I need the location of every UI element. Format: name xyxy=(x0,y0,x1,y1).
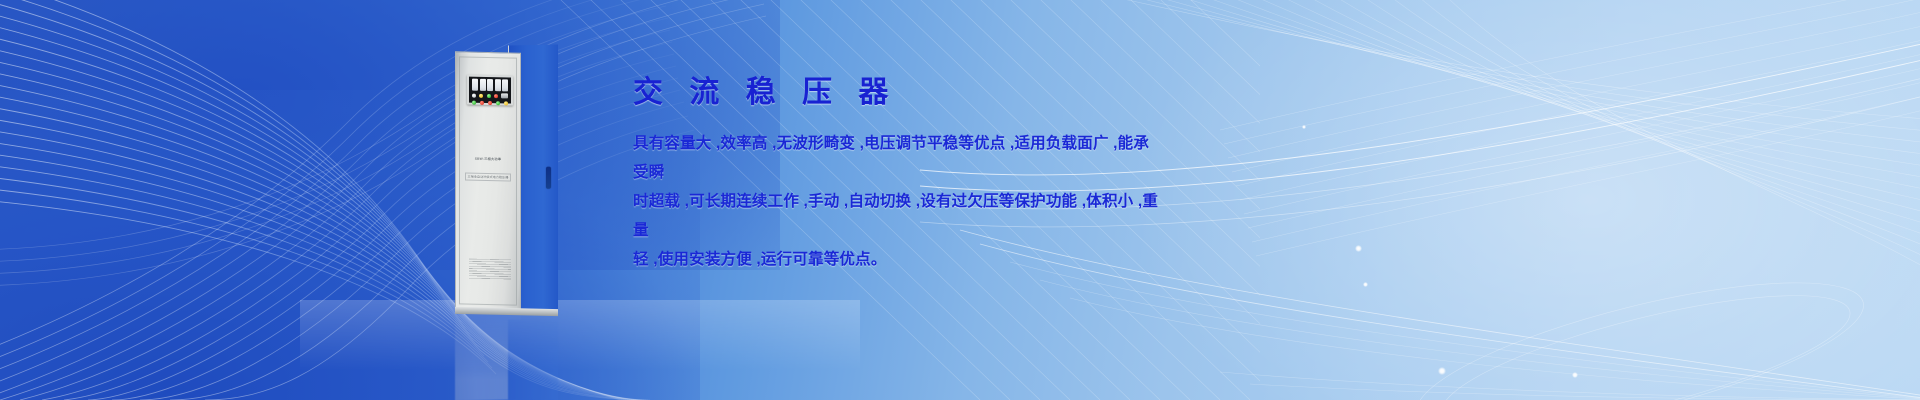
indicator-lamp-icon xyxy=(472,93,476,97)
indicator-lamp-icon xyxy=(488,101,492,105)
indicator-lamp-icon xyxy=(504,101,508,105)
banner-copy: 交 流 稳 压 器 具有容量大 ,效率高 ,无波形畸变 ,电压调节平稳等优点 ,… xyxy=(633,76,1163,274)
indicator-lamp-icon xyxy=(480,100,484,104)
product-reflection xyxy=(452,308,632,400)
meter-gauge xyxy=(472,79,478,91)
indicator-lamp-icon xyxy=(479,93,483,97)
indicator-lamp-row-1 xyxy=(472,93,508,99)
reflection-side xyxy=(508,320,558,400)
indicator-lamp-icon xyxy=(496,101,500,105)
model-plate: SBW-三相大功率 三相全自动补偿式电力稳压器 xyxy=(456,156,520,186)
meter-gauge xyxy=(495,79,501,91)
indicator-lamp-row-2 xyxy=(472,100,508,106)
cabinet-front-door: SBW-三相大功率 三相全自动补偿式电力稳压器 xyxy=(455,51,521,310)
indicator-lamp-icon xyxy=(494,94,498,98)
indicator-lamp-icon xyxy=(472,100,476,104)
meter-gauge xyxy=(502,79,508,91)
meter-gauge xyxy=(487,79,493,91)
cabinet-handle xyxy=(546,167,551,189)
banner-headline: 交 流 稳 压 器 xyxy=(633,76,1163,109)
description-line-3: 轻 ,使用安装方便 ,运行可靠等优点。 xyxy=(633,251,887,268)
product-banner: SBW-三相大功率 三相全自动补偿式电力稳压器 交 流 稳 压 器 具有容量大 … xyxy=(0,0,1920,400)
model-plate-line2: 三相全自动补偿式电力稳压器 xyxy=(465,173,512,182)
meter-group xyxy=(472,79,508,92)
indicator-lamp-icon xyxy=(487,93,491,97)
control-panel xyxy=(467,75,513,106)
panel-button-icon xyxy=(501,93,508,98)
description-line-2: 时超载 ,可长期连续工作 ,手动 ,自动切换 ,设有过欠压等保护功能 ,体积小 … xyxy=(633,193,1158,239)
model-plate-line1: SBW-三相大功率 xyxy=(456,156,520,162)
meter-gauge xyxy=(480,79,486,91)
ventilation-grille xyxy=(469,259,511,280)
banner-description: 具有容量大 ,效率高 ,无波形畸变 ,电压调节平稳等优点 ,适用负载面广 ,能承… xyxy=(633,129,1163,274)
description-line-1: 具有容量大 ,效率高 ,无波形畸变 ,电压调节平稳等优点 ,适用负载面广 ,能承… xyxy=(633,135,1149,181)
